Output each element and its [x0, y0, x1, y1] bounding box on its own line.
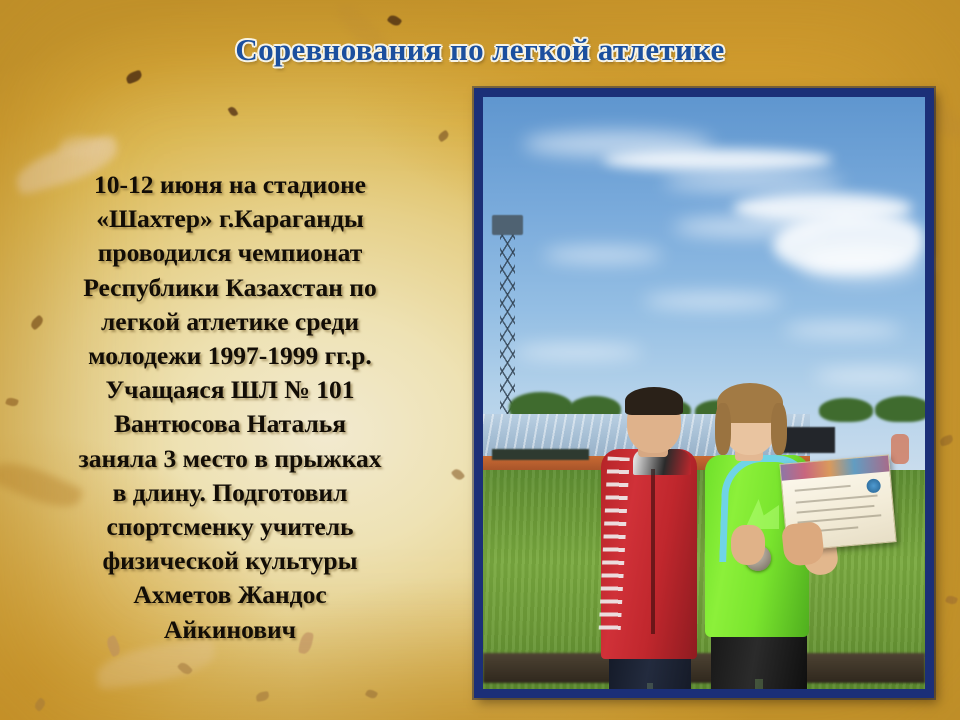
stadium-award-photo [483, 97, 925, 689]
body-line: физической культуры [24, 544, 436, 578]
coach-leg-gap [647, 683, 653, 689]
athlete-right-hand [781, 521, 825, 567]
athlete-left-hand [731, 525, 765, 565]
certificate-text-line [796, 495, 878, 504]
page-title: Соревнования по легкой атлетике [0, 32, 960, 68]
body-line: спортсменку учитель [24, 510, 436, 544]
presentation-slide: Соревнования по легкой атлетике 10-12 ию… [0, 0, 960, 720]
cloud-icon [813, 369, 923, 383]
coach-zipper [651, 469, 655, 634]
coach-hair [625, 387, 683, 415]
athlete-hair-side [715, 403, 731, 455]
body-line: в длину. Подготовил [24, 476, 436, 510]
cloud-icon [513, 345, 643, 359]
tree-icon [819, 398, 873, 422]
body-line: Ахметов Жандос [24, 578, 436, 612]
body-line: Учащаяся ШЛ № 101 [24, 373, 436, 407]
body-line: Вантюсова Наталья [24, 407, 436, 441]
athlete-shorts-gap [755, 679, 763, 689]
floodlight-head-icon [492, 215, 523, 235]
scoreboard-icon [779, 427, 835, 453]
certificate-text-line [797, 505, 875, 514]
tree-icon [875, 396, 925, 422]
stands-shadow [492, 449, 589, 460]
athlete-hair-side [771, 403, 787, 455]
cloud-icon [643, 293, 783, 309]
certificate-text-line [795, 485, 851, 492]
body-line: легкой атлетике среди [24, 305, 436, 339]
body-line: проводился чемпионат [24, 236, 436, 270]
body-line: молодежи 1997-1999 гг.р. [24, 339, 436, 373]
body-line: 10-12 июня на стадионе [24, 168, 436, 202]
cloud-icon [603, 149, 833, 171]
cloud-icon [663, 173, 843, 191]
photo-frame [474, 88, 934, 698]
slide-body-text: 10-12 июня на стадионе «Шахтер» г.Карага… [24, 168, 436, 647]
dirt-strip [483, 653, 925, 683]
body-line: Республики Казахстан по [24, 271, 436, 305]
cloud-icon [801, 247, 921, 281]
distant-person-icon [891, 434, 909, 464]
body-line: Айкинович [24, 613, 436, 647]
cloud-icon [783, 323, 903, 337]
certificate-seal-icon [866, 478, 881, 493]
cloud-icon [543, 247, 663, 263]
body-line: «Шахтер» г.Караганды [24, 202, 436, 236]
body-line: занялa 3 место в прыжках [24, 442, 436, 476]
